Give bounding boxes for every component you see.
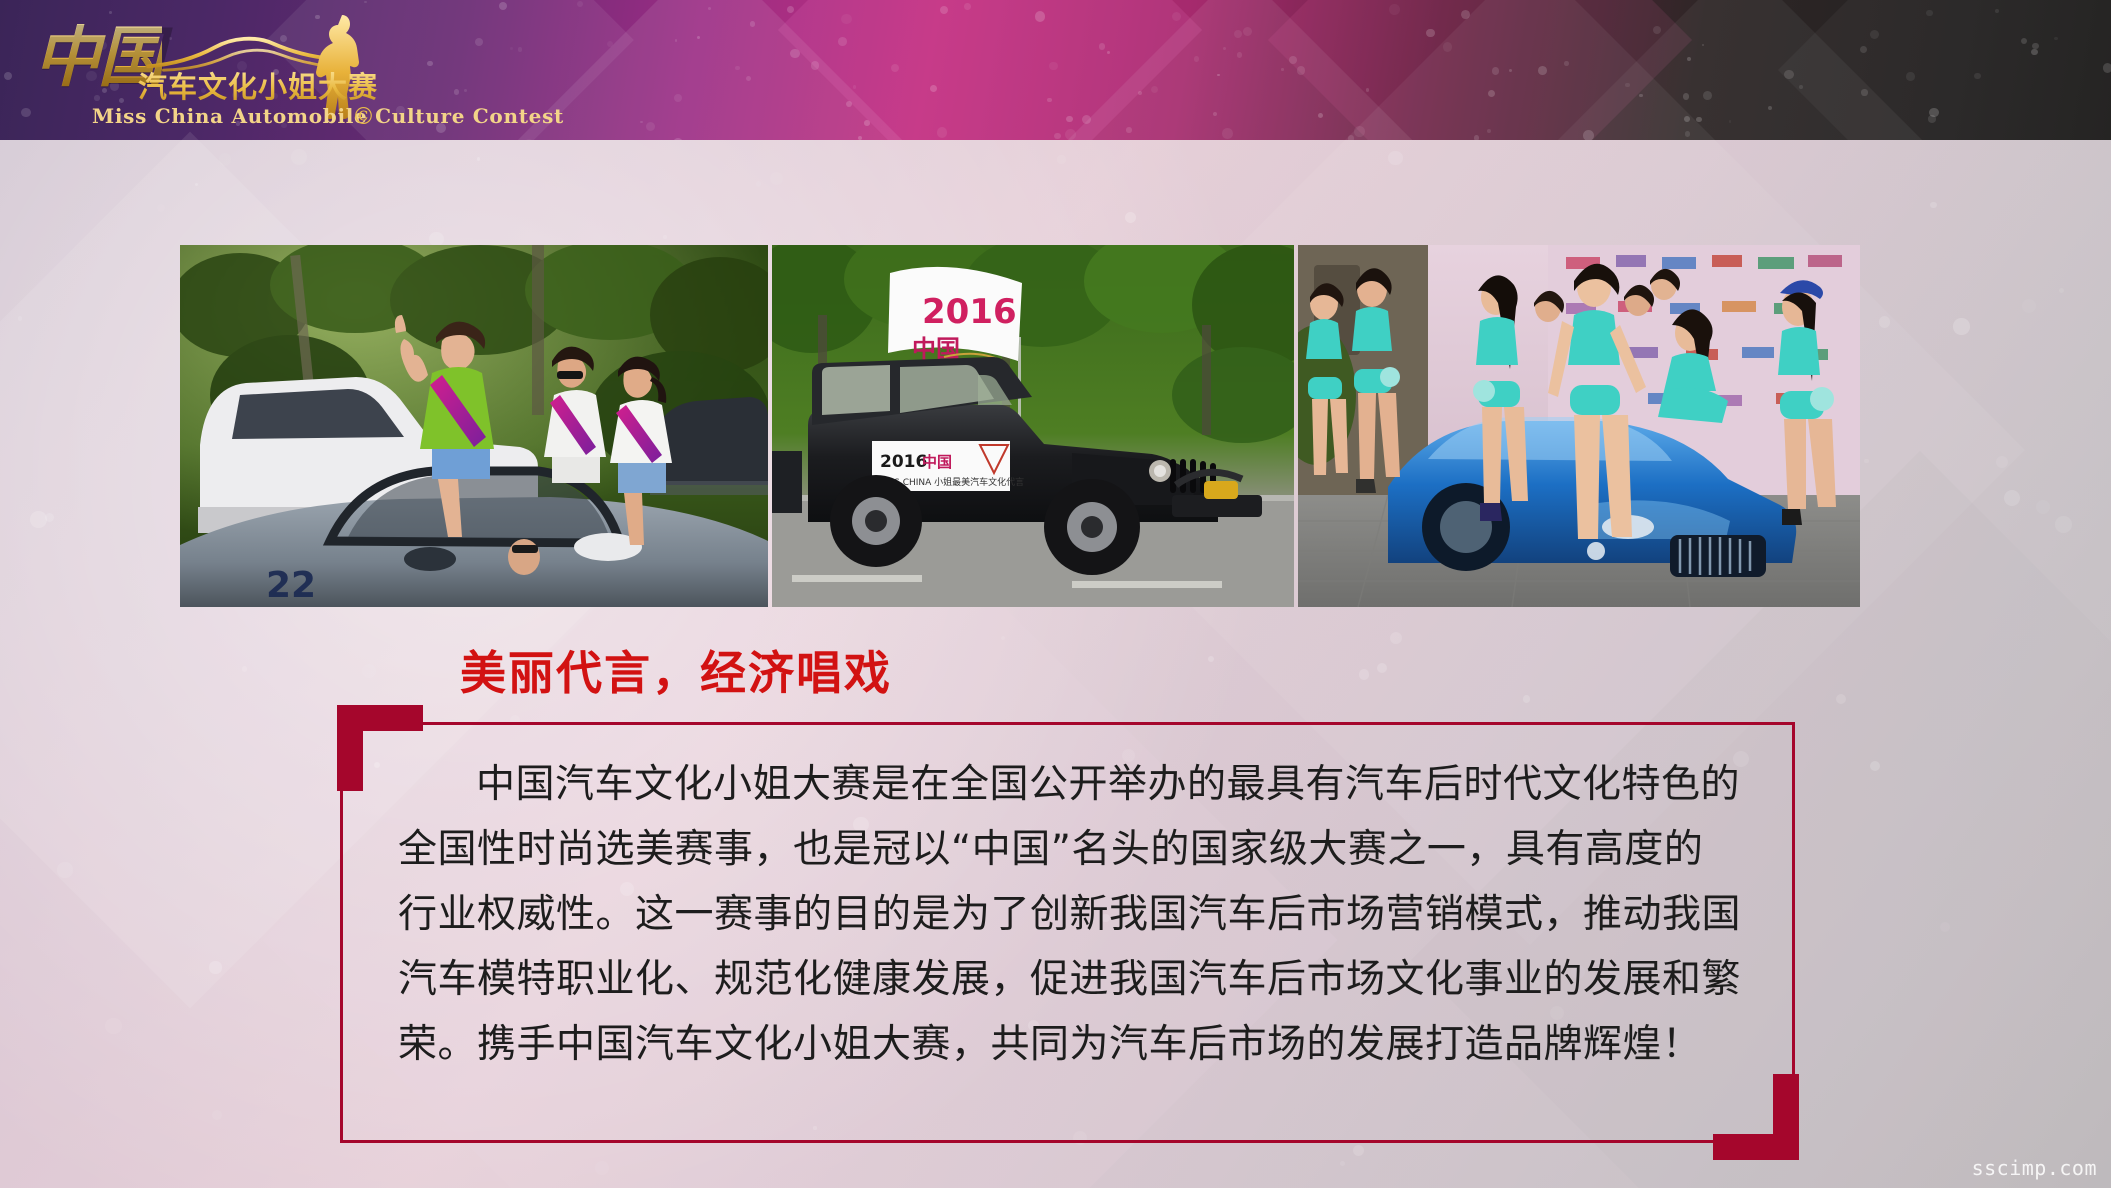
bokeh-dot bbox=[2055, 516, 2072, 533]
copyright-icon: © bbox=[352, 104, 375, 130]
bokeh-dot bbox=[964, 3, 971, 10]
bokeh-dot bbox=[595, 1161, 609, 1175]
bokeh-dot bbox=[940, 6, 948, 14]
bokeh-dot bbox=[1926, 10, 1933, 17]
bokeh-dot bbox=[1297, 66, 1305, 74]
bokeh-dot bbox=[1390, 632, 1402, 644]
bokeh-dot bbox=[1213, 112, 1217, 116]
svg-text:2016: 2016 bbox=[880, 452, 927, 472]
bokeh-dot bbox=[242, 666, 247, 671]
brand-logo-subtitle-en: Miss China Automobile Culture Contest bbox=[92, 104, 564, 128]
brand-logo-subtitle-cn: 汽车文化小姐大赛 bbox=[138, 64, 378, 106]
bokeh-dot bbox=[21, 108, 31, 118]
bokeh-dot bbox=[1523, 695, 1531, 703]
bokeh-dot bbox=[4, 72, 12, 80]
bokeh-dot bbox=[1836, 694, 1846, 704]
bokeh-dot bbox=[291, 149, 307, 165]
bokeh-dot bbox=[858, 136, 862, 140]
bokeh-dot bbox=[1784, 70, 1794, 80]
body-paragraph: 中国汽车文化小姐大赛是在全国公开举办的最具有汽车后时代文化特色的 全国性时尚选美… bbox=[398, 752, 1743, 1077]
svg-text:中国: 中国 bbox=[922, 453, 952, 471]
bokeh-dot bbox=[1099, 43, 1106, 50]
bokeh-dot bbox=[1996, 456, 2009, 469]
bokeh-dot bbox=[464, 89, 467, 92]
bokeh-dot bbox=[756, 181, 761, 186]
bokeh-dot bbox=[429, 232, 443, 246]
header-facet bbox=[1268, 0, 1692, 140]
bokeh-dot bbox=[1054, 133, 1061, 140]
bokeh-dot bbox=[1683, 93, 1690, 100]
bokeh-dot bbox=[454, 89, 460, 95]
body-line: 中国汽车文化小姐大赛是在全国公开举办的最具有汽车后时代文化特色的 bbox=[398, 752, 1743, 817]
bokeh-dot bbox=[577, 1, 583, 7]
bokeh-dot bbox=[1047, 98, 1051, 102]
bokeh-dot bbox=[1684, 116, 1690, 122]
bokeh-dot bbox=[1125, 212, 1136, 223]
bokeh-dot bbox=[853, 85, 856, 88]
bokeh-dot bbox=[1281, 68, 1283, 70]
bokeh-dot bbox=[2021, 38, 2027, 44]
bokeh-dot bbox=[2103, 63, 2111, 73]
bokeh-dot bbox=[735, 66, 740, 71]
bokeh-dot bbox=[524, 139, 534, 140]
bokeh-dot bbox=[746, 76, 751, 81]
bokeh-dot bbox=[1870, 761, 1880, 771]
bokeh-dot bbox=[510, 47, 513, 50]
bokeh-dot bbox=[708, 7, 711, 10]
bokeh-dot bbox=[105, 1018, 122, 1035]
bokeh-dot bbox=[790, 49, 799, 58]
bokeh-dot bbox=[674, 94, 682, 102]
section-headline: 美丽代言，经济唱戏 bbox=[460, 637, 892, 703]
bokeh-dot bbox=[1685, 131, 1690, 136]
bokeh-dot bbox=[770, 172, 783, 185]
bokeh-dot bbox=[1223, 47, 1226, 50]
bokeh-dot bbox=[1461, 10, 1470, 19]
bokeh-dot bbox=[1799, 85, 1803, 89]
header-facet bbox=[1028, 0, 1452, 140]
bokeh-dot bbox=[2054, 37, 2057, 40]
bokeh-dot bbox=[1864, 459, 1868, 463]
bokeh-dot bbox=[811, 61, 819, 69]
photo-maserati-models[interactable] bbox=[1298, 245, 1860, 607]
bokeh-dot bbox=[1172, 12, 1181, 21]
bokeh-dot bbox=[846, 101, 852, 107]
svg-text:22: 22 bbox=[266, 565, 316, 606]
bokeh-dot bbox=[1928, 115, 1935, 122]
bokeh-dot bbox=[1906, 72, 1914, 80]
bokeh-dot bbox=[1217, 74, 1219, 76]
bokeh-dot bbox=[1049, 62, 1058, 71]
bokeh-dot bbox=[1354, 126, 1365, 137]
bokeh-dot bbox=[364, 1, 366, 3]
bokeh-dot bbox=[1696, 117, 1701, 122]
bokeh-dot bbox=[1194, 56, 1200, 62]
bokeh-dot bbox=[1289, 56, 1297, 64]
bokeh-dot bbox=[1995, 9, 1999, 13]
presentation-slide: 中国汽车文化小姐大赛 Miss China Automobile Culture… bbox=[0, 0, 2111, 1188]
bokeh-dot bbox=[1940, 922, 1950, 932]
bokeh-dot bbox=[209, 961, 221, 973]
bokeh-dot bbox=[1488, 90, 1495, 97]
bokeh-dot bbox=[1564, 61, 1568, 65]
bokeh-dot bbox=[2004, 490, 2020, 506]
bokeh-dot bbox=[1366, 88, 1369, 91]
bokeh-dot bbox=[212, 1110, 222, 1120]
bokeh-dot bbox=[1860, 46, 1867, 53]
bokeh-dot bbox=[1653, 26, 1661, 34]
bokeh-dot bbox=[30, 511, 47, 528]
bokeh-dot bbox=[1001, 636, 1005, 640]
bokeh-dot bbox=[1974, 73, 1980, 79]
site-watermark: sscimp.com bbox=[1972, 1156, 2097, 1180]
bokeh-dot bbox=[499, 2, 507, 10]
bokeh-dot bbox=[1353, 1145, 1364, 1156]
bokeh-dot bbox=[1702, 44, 1704, 46]
photo-strip: 22 bbox=[180, 245, 1860, 607]
bokeh-dot bbox=[1474, 135, 1479, 140]
brand-logo[interactable]: 中国汽车文化小姐大赛 Miss China Automobile Culture… bbox=[34, 8, 364, 136]
bokeh-dot bbox=[477, 157, 480, 160]
bokeh-dot bbox=[1243, 27, 1253, 37]
bokeh-dot bbox=[1234, 30, 1242, 38]
bokeh-dot bbox=[930, 85, 937, 92]
bokeh-dot bbox=[1538, 66, 1547, 75]
bokeh-dot bbox=[1065, 129, 1076, 140]
brand-logo-fullname: 中国汽车文化小姐大赛 Miss China Automobile Culture… bbox=[34, 8, 35, 9]
header-banner: 中国汽车文化小姐大赛 Miss China Automobile Culture… bbox=[0, 0, 2111, 140]
bokeh-dot bbox=[1625, 83, 1630, 88]
bokeh-dot bbox=[841, 14, 852, 25]
bokeh-dot bbox=[1388, 151, 1403, 166]
bokeh-dot bbox=[195, 183, 199, 187]
bokeh-dot bbox=[2059, 288, 2064, 293]
bokeh-dot bbox=[427, 61, 433, 67]
body-line: 全国性时尚选美赛事，也是冠以“中国”名头的国家级大赛之一，具有高度的 bbox=[398, 817, 1743, 882]
bokeh-dot bbox=[1861, 89, 1867, 95]
svg-text:2016: 2016 bbox=[922, 292, 1017, 332]
bokeh-dot bbox=[673, 138, 683, 140]
bokeh-dot bbox=[1703, 91, 1712, 100]
bokeh-dot bbox=[864, 120, 870, 126]
bokeh-dot bbox=[1359, 669, 1369, 679]
bokeh-dot bbox=[1057, 155, 1065, 163]
bokeh-dot bbox=[1492, 67, 1500, 75]
bokeh-dot bbox=[2031, 49, 2037, 55]
bokeh-dot bbox=[640, 121, 643, 124]
bokeh-dot bbox=[1377, 663, 1387, 673]
bokeh-dot bbox=[937, 127, 947, 137]
bokeh-dot bbox=[697, 36, 701, 40]
bokeh-dot bbox=[1151, 86, 1158, 93]
bokeh-dot bbox=[1066, 116, 1072, 122]
bokeh-dot bbox=[838, 37, 847, 46]
bokeh-dot bbox=[1035, 11, 1045, 21]
bokeh-dot bbox=[1583, 130, 1594, 140]
bokeh-dot bbox=[1138, 91, 1142, 95]
bokeh-dot bbox=[1318, 113, 1324, 119]
photo-pageant-convertible[interactable]: 22 bbox=[180, 245, 768, 607]
bokeh-dot bbox=[219, 153, 231, 165]
bokeh-dot bbox=[891, 64, 899, 72]
bokeh-dot bbox=[475, 38, 483, 46]
bokeh-dot bbox=[2036, 500, 2050, 514]
bokeh-dot bbox=[1870, 30, 1879, 39]
bokeh-dot bbox=[2022, 299, 2036, 313]
bokeh-dot bbox=[607, 41, 613, 47]
bokeh-dot bbox=[157, 204, 165, 212]
bokeh-dot bbox=[1107, 51, 1110, 54]
bokeh-dot bbox=[1768, 106, 1772, 110]
bokeh-dot bbox=[1208, 656, 1214, 662]
bokeh-dot bbox=[675, 39, 677, 41]
bokeh-dot bbox=[1930, 202, 1937, 209]
bokeh-dot bbox=[1487, 129, 1491, 133]
bokeh-dot bbox=[1126, 127, 1132, 133]
bokeh-dot bbox=[1222, 128, 1233, 139]
bokeh-dot bbox=[1953, 318, 1970, 335]
bokeh-dot bbox=[1879, 316, 1890, 327]
bokeh-dot bbox=[45, 513, 55, 523]
bokeh-dot bbox=[787, 6, 794, 13]
bokeh-dot bbox=[646, 122, 655, 131]
bokeh-dot bbox=[1237, 52, 1243, 58]
bokeh-dot bbox=[1729, 120, 1732, 123]
bokeh-dot bbox=[663, 235, 667, 239]
header-facet bbox=[1528, 0, 1952, 140]
bokeh-dot bbox=[518, 47, 522, 51]
bokeh-dot bbox=[18, 316, 22, 320]
body-line: 汽车模特职业化、规范化健康发展，促进我国汽车后市场文化事业的发展和繁 bbox=[398, 947, 1743, 1012]
header-facet bbox=[1778, 0, 2111, 140]
bokeh-dot bbox=[1639, 94, 1642, 97]
bokeh-dot bbox=[750, 21, 756, 27]
bokeh-dot bbox=[362, 664, 376, 678]
bokeh-dot bbox=[1389, 4, 1400, 15]
bokeh-dot bbox=[1426, 29, 1434, 37]
bokeh-dot bbox=[1340, 1161, 1345, 1166]
bokeh-dot bbox=[1443, 42, 1452, 51]
bokeh-dot bbox=[57, 862, 72, 877]
bokeh-dot bbox=[1082, 115, 1091, 124]
bokeh-dot bbox=[1509, 69, 1512, 72]
bokeh-dot bbox=[1687, 57, 1691, 61]
body-line: 行业权威性。这一赛事的目的是为了创新我国汽车后市场营销模式，推动我国 bbox=[398, 882, 1743, 947]
bokeh-dot bbox=[1348, 135, 1354, 140]
body-line: 荣。携手中国汽车文化小姐大赛，共同为汽车后市场的发展打造品牌辉煌！ bbox=[398, 1012, 1743, 1077]
photo-jeep-flag[interactable]: 2016 中国 2016 中国 MISS CHINA 小姐最美汽车文化代言 bbox=[772, 245, 1294, 607]
